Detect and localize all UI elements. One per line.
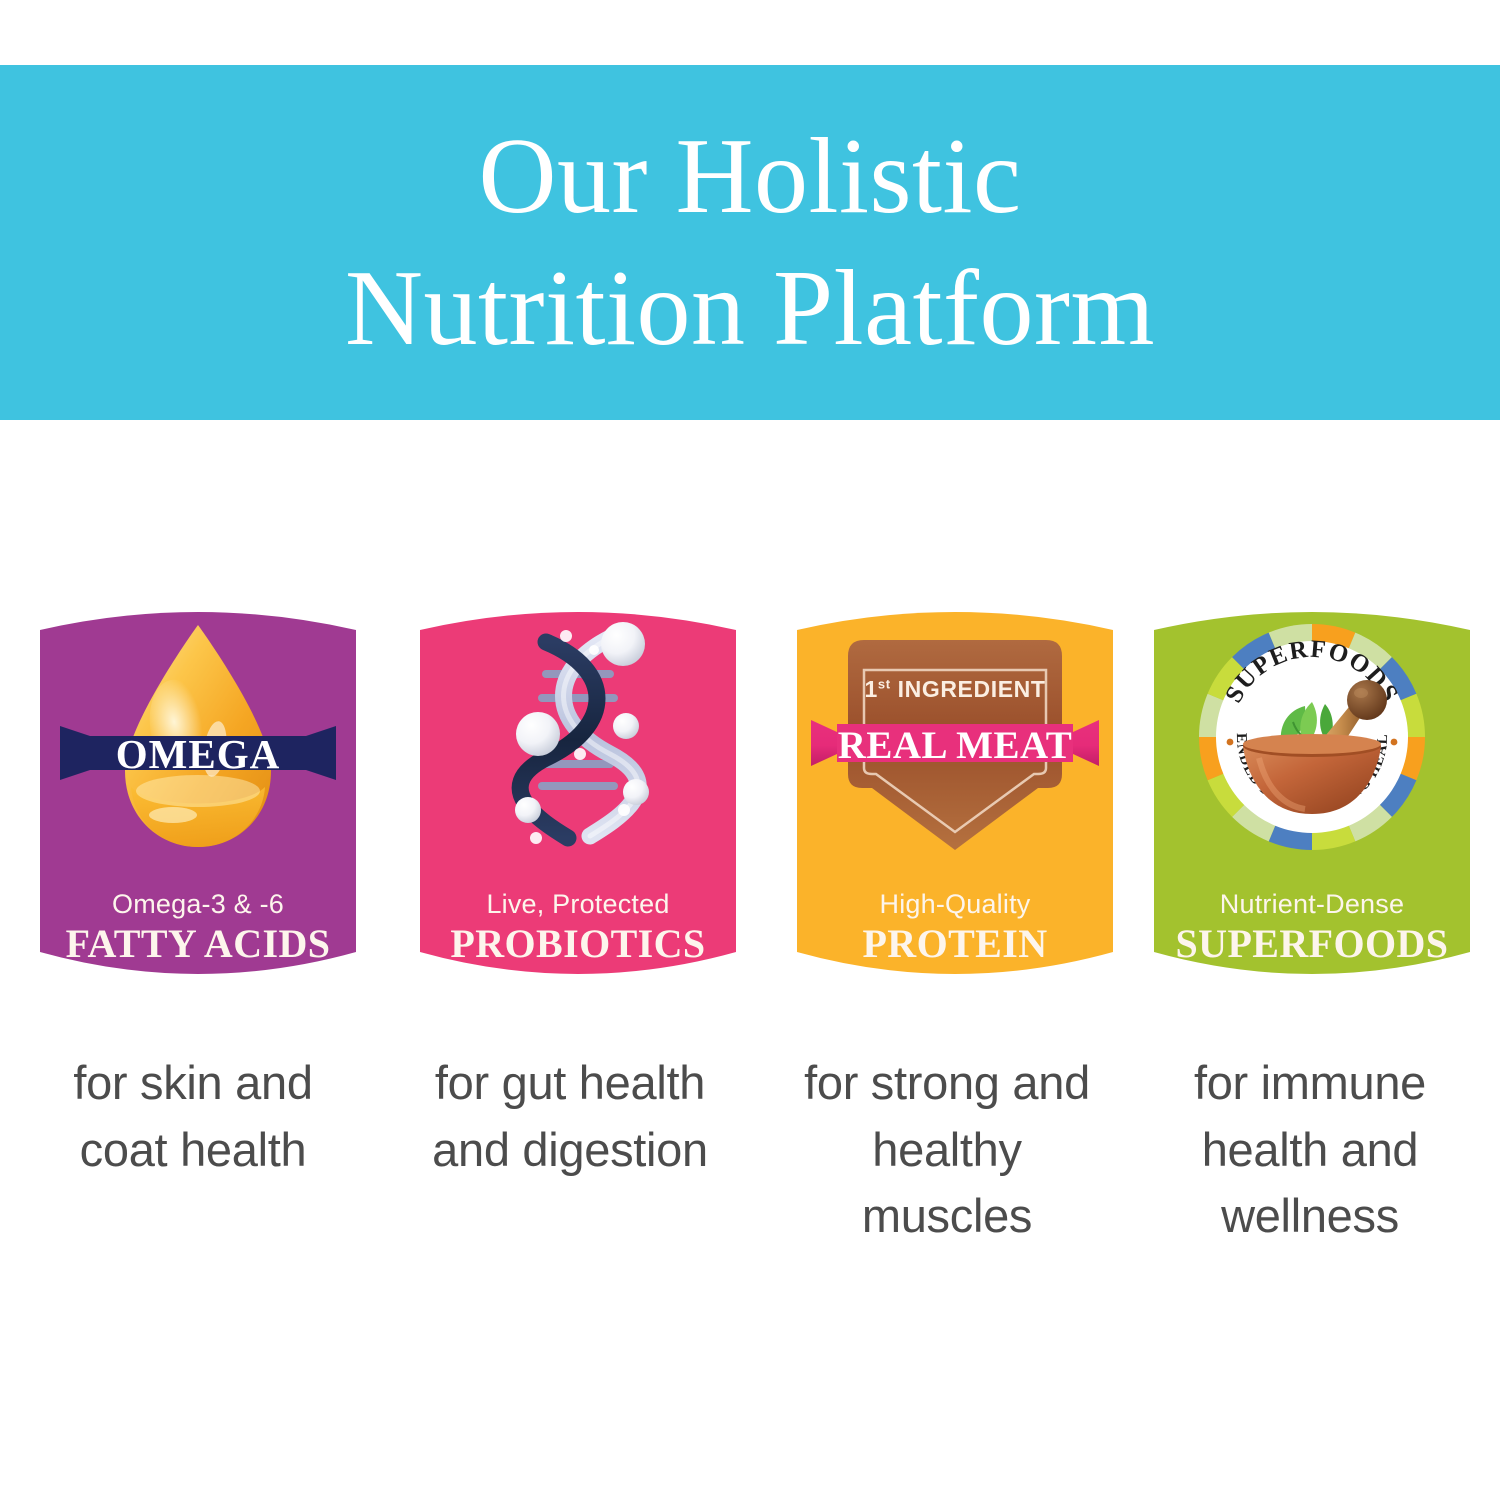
omega-ribbon [60,722,336,784]
caption-skin-coat: for skin and coat health [28,1050,358,1183]
shield-first-ingredient-label: 1st INGREDIENT [795,676,1115,703]
mortar-pestle-seal-icon: SUPERFOODS BLENDED FOR LIFELONG HEALTH [1152,614,1472,859]
badge-probiotics-label-bottom: PROBIOTICS [418,922,738,966]
badge-superfoods-label-top: Nutrient-Dense [1152,889,1472,920]
badge-superfoods-labels: Nutrient-Dense SUPERFOODS [1152,889,1472,966]
badge-omega-label-bottom: FATTY ACIDS [38,922,358,966]
header-banner: Our Holistic Nutrition Platform [0,65,1500,420]
badge-protein-label-bottom: PROTEIN [795,922,1115,966]
badge-row: OMEGA Omega-3 & -6 FATTY ACIDS [0,600,1500,1000]
caption-muscles: for strong and healthy muscles [782,1050,1112,1250]
badge-probiotics-labels: Live, Protected PROBIOTICS [418,889,738,966]
badge-probiotics-label-top: Live, Protected [418,889,738,920]
real-meat-ribbon-label: REAL MEAT [795,723,1115,768]
badge-omega-label-top: Omega-3 & -6 [38,889,358,920]
page-title-line1: Our Holistic [479,111,1022,243]
caption-row: for skin and coat health for gut health … [0,1050,1500,1290]
badge-superfoods[interactable]: SUPERFOODS BLENDED FOR LIFELONG HEALTH [1152,600,1472,1000]
badge-omega[interactable]: OMEGA Omega-3 & -6 FATTY ACIDS [38,600,358,1000]
badge-probiotics[interactable]: Live, Protected PROBIOTICS [418,600,738,1000]
caption-gut: for gut health and digestion [405,1050,735,1183]
page-title-line2: Nutrition Platform [345,243,1155,375]
badge-superfoods-label-bottom: SUPERFOODS [1152,922,1472,966]
badge-protein-label-top: High-Quality [795,889,1115,920]
badge-protein[interactable]: 1st INGREDIENT [795,600,1115,1000]
badge-protein-labels: High-Quality PROTEIN [795,889,1115,966]
caption-immune: for immune health and wellness [1145,1050,1475,1250]
badge-omega-labels: Omega-3 & -6 FATTY ACIDS [38,889,358,966]
infographic-page: Our Holistic Nutrition Platform [0,0,1500,1500]
dna-helix-icon [418,614,738,859]
